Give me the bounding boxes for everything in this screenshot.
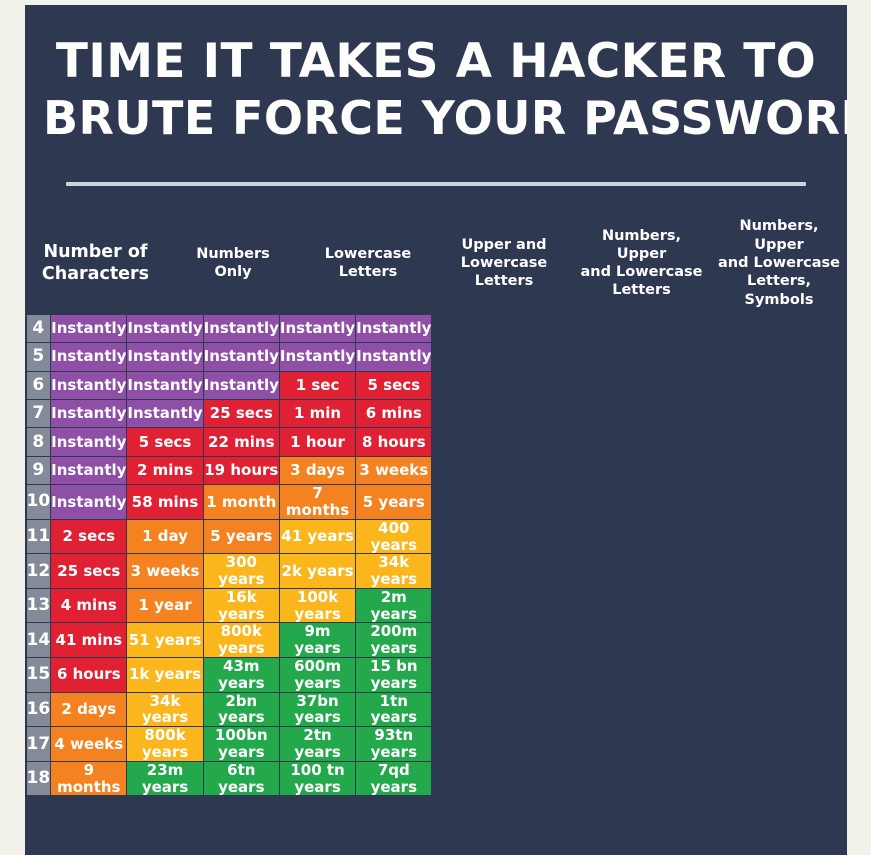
crack-time-cell: 4 mins	[51, 588, 127, 623]
crack-time-cell: 1 sec	[279, 371, 355, 399]
row-label-characters: 18	[26, 761, 51, 796]
row-label-characters: 9	[26, 456, 51, 484]
crack-time-cell: 3 days	[279, 456, 355, 484]
crack-time-cell: 19 hours	[203, 456, 279, 484]
row-label-characters: 17	[26, 727, 51, 762]
table-row: 162 days34k years2bn years37bn years1tn …	[26, 692, 432, 727]
row-label-characters: 15	[26, 658, 51, 693]
crack-time-cell: 7 months	[279, 485, 355, 520]
column-header-3-line-1: Lowercase Letters	[439, 254, 569, 291]
crack-time-cell: Instantly	[127, 343, 203, 371]
crack-time-cell: 22 mins	[203, 428, 279, 456]
table-row: 189 months23m years6tn years100 tn years…	[26, 761, 432, 796]
crack-time-cell: Instantly	[279, 314, 355, 342]
crack-time-cell: 43m years	[203, 658, 279, 693]
crack-time-cell: 4 weeks	[51, 727, 127, 762]
table-row: 8Instantly5 secs22 mins1 hour8 hours	[26, 428, 432, 456]
crack-time-cell: 34k years	[356, 554, 432, 589]
crack-time-cell: 25 secs	[51, 554, 127, 589]
crack-time-cell: Instantly	[51, 485, 127, 520]
crack-time-cell: Instantly	[51, 428, 127, 456]
crack-time-cell: 1tn years	[356, 692, 432, 727]
column-header-4-line-0: Numbers, Upper	[576, 227, 707, 264]
crack-time-cell: 800k years	[203, 623, 279, 658]
crack-time-cell: 2m years	[356, 588, 432, 623]
table-row: 6InstantlyInstantlyInstantly1 sec5 secs	[26, 371, 432, 399]
crack-time-cell: 6tn years	[203, 761, 279, 796]
crack-time-cell: Instantly	[51, 456, 127, 484]
crack-time-cell: 800k years	[127, 727, 203, 762]
column-header-3-line-0: Upper and	[439, 236, 569, 254]
crack-time-cell: 100k years	[279, 588, 355, 623]
column-header-1: NumbersOnly	[166, 213, 301, 313]
table-row: 4InstantlyInstantlyInstantlyInstantlyIns…	[26, 314, 432, 342]
crack-time-cell: 2tn years	[279, 727, 355, 762]
crack-time-cell: Instantly	[279, 343, 355, 371]
title-line-2: BRUTE FORCE YOUR PASSWORD	[43, 90, 829, 146]
crack-time-cell: 7qd years	[356, 761, 432, 796]
title-line-1: TIME IT TAKES A HACKER TO	[43, 33, 829, 90]
table-row: 1225 secs3 weeks300 years2k years34k yea…	[26, 554, 432, 589]
row-label-characters: 12	[26, 554, 51, 589]
title-block: TIME IT TAKES A HACKER TO BRUTE FORCE YO…	[25, 5, 847, 186]
crack-time-cell: 3 weeks	[356, 456, 432, 484]
row-label-characters: 14	[26, 623, 51, 658]
crack-time-cell: 41 mins	[51, 623, 127, 658]
crack-time-cell: 23m years	[127, 761, 203, 796]
column-header-4: Numbers, Upperand LowercaseLetters	[573, 213, 711, 313]
column-header-5-line-2: Letters, Symbols	[714, 272, 844, 309]
crack-time-cell: 300 years	[203, 554, 279, 589]
crack-time-cell: Instantly	[356, 314, 432, 342]
crack-time-cell: 1 hour	[279, 428, 355, 456]
table-row: 10Instantly58 mins1 month7 months5 years	[26, 485, 432, 520]
crack-time-cell: 1k years	[127, 658, 203, 693]
title-divider	[66, 182, 806, 186]
row-label-characters: 10	[26, 485, 51, 520]
crack-time-cell: 2bn years	[203, 692, 279, 727]
infographic-card: TIME IT TAKES A HACKER TO BRUTE FORCE YO…	[25, 5, 847, 855]
table-row: 9Instantly2 mins19 hours3 days3 weeks	[26, 456, 432, 484]
column-header-4-line-1: and Lowercase	[576, 263, 707, 281]
crack-time-cell: Instantly	[203, 371, 279, 399]
table-row: 156 hours1k years43m years600m years15 b…	[26, 658, 432, 693]
crack-time-cell: 9 months	[51, 761, 127, 796]
column-header-4-line-2: Letters	[576, 281, 707, 299]
crack-time-cell: 5 secs	[127, 428, 203, 456]
password-crack-time-table: Number ofCharactersNumbersOnlyLowercaseL…	[25, 212, 847, 796]
crack-time-cell: 5 secs	[356, 371, 432, 399]
crack-time-cell: 2 days	[51, 692, 127, 727]
crack-time-cell: 8 hours	[356, 428, 432, 456]
row-label-characters: 13	[26, 588, 51, 623]
row-label-characters: 16	[26, 692, 51, 727]
table-row: 7InstantlyInstantly25 secs1 min6 mins	[26, 399, 432, 427]
row-label-characters: 6	[26, 371, 51, 399]
crack-time-cell: 600m years	[279, 658, 355, 693]
crack-time-cell: 25 secs	[203, 399, 279, 427]
row-label-characters: 11	[26, 519, 51, 554]
table-row: 112 secs1 day5 years41 years400 years	[26, 519, 432, 554]
column-header-1-line-1: Only	[169, 263, 297, 281]
table-header-row: Number ofCharactersNumbersOnlyLowercaseL…	[26, 213, 848, 313]
crack-time-cell: 3 weeks	[127, 554, 203, 589]
crack-time-cell: 5 years	[356, 485, 432, 520]
crack-time-cell: Instantly	[127, 371, 203, 399]
crack-time-cell: 100 tn years	[279, 761, 355, 796]
crack-time-cell: 58 mins	[127, 485, 203, 520]
row-label-characters: 5	[26, 343, 51, 371]
table-row: 174 weeks800k years100bn years2tn years9…	[26, 727, 432, 762]
crack-time-cell: 6 mins	[356, 399, 432, 427]
crack-time-cell: 1 day	[127, 519, 203, 554]
crack-time-cell: 100bn years	[203, 727, 279, 762]
crack-time-cell: Instantly	[356, 343, 432, 371]
crack-time-cell: 16k years	[203, 588, 279, 623]
column-header-2-line-0: Lowercase	[304, 245, 432, 263]
crack-time-cell: 37bn years	[279, 692, 355, 727]
crack-time-cell: Instantly	[127, 399, 203, 427]
crack-time-cell: 5 years	[203, 519, 279, 554]
crack-time-cell: 2k years	[279, 554, 355, 589]
column-header-0-line-0: Number of	[29, 241, 162, 263]
column-header-5-line-1: and Lowercase	[714, 254, 844, 272]
crack-time-cell: 51 years	[127, 623, 203, 658]
crack-time-cell: 2 mins	[127, 456, 203, 484]
crack-time-cell: 1 year	[127, 588, 203, 623]
row-label-characters: 4	[26, 314, 51, 342]
table-row: 1441 mins51 years800k years9m years200m …	[26, 623, 432, 658]
crack-time-cell: Instantly	[127, 314, 203, 342]
crack-time-cell: 15 bn years	[356, 658, 432, 693]
column-header-2-line-1: Letters	[304, 263, 432, 281]
table-row: 134 mins1 year16k years100k years2m year…	[26, 588, 432, 623]
crack-time-cell: Instantly	[203, 343, 279, 371]
crack-time-cell: Instantly	[51, 371, 127, 399]
column-header-3: Upper andLowercase Letters	[436, 213, 573, 313]
crack-time-cell: 1 min	[279, 399, 355, 427]
crack-time-cell: Instantly	[203, 314, 279, 342]
crack-time-cell: Instantly	[51, 343, 127, 371]
table-row: 5InstantlyInstantlyInstantlyInstantlyIns…	[26, 343, 432, 371]
column-header-0: Number ofCharacters	[26, 213, 166, 313]
crack-time-cell: 9m years	[279, 623, 355, 658]
column-header-5: Numbers, Upperand LowercaseLetters, Symb…	[711, 213, 848, 313]
crack-time-cell: 200m years	[356, 623, 432, 658]
crack-time-cell: 400 years	[356, 519, 432, 554]
crack-time-cell: Instantly	[51, 314, 127, 342]
column-header-5-line-0: Numbers, Upper	[714, 217, 844, 254]
row-label-characters: 7	[26, 399, 51, 427]
crack-time-cell: 2 secs	[51, 519, 127, 554]
crack-time-cell: 1 month	[203, 485, 279, 520]
crack-time-cell: 34k years	[127, 692, 203, 727]
crack-time-cell: 41 years	[279, 519, 355, 554]
crack-time-cell: 93tn years	[356, 727, 432, 762]
column-header-1-line-0: Numbers	[169, 245, 297, 263]
crack-time-cell: Instantly	[51, 399, 127, 427]
crack-time-cell: 6 hours	[51, 658, 127, 693]
column-header-2: LowercaseLetters	[301, 213, 436, 313]
row-label-characters: 8	[26, 428, 51, 456]
column-header-0-line-1: Characters	[29, 263, 162, 285]
